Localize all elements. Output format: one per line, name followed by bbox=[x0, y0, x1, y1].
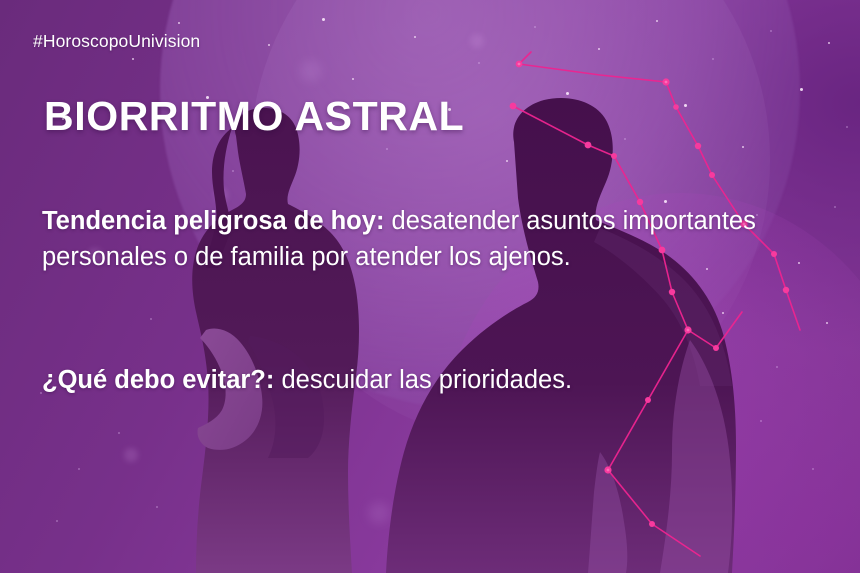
horoscope-card: #HoroscopoUnivision BIORRITMO ASTRAL Ten… bbox=[0, 0, 860, 573]
paragraph-evitar: ¿Qué debo evitar?: descuidar las priorid… bbox=[42, 362, 828, 398]
text-content: #HoroscopoUnivision BIORRITMO ASTRAL Ten… bbox=[0, 0, 860, 573]
hashtag-label: #HoroscopoUnivision bbox=[33, 31, 200, 52]
paragraph-evitar-text: descuidar las prioridades. bbox=[274, 366, 572, 394]
paragraph-tendencia-lead: Tendencia peligrosa de hoy: bbox=[42, 207, 384, 235]
paragraph-evitar-lead: ¿Qué debo evitar?: bbox=[42, 366, 274, 394]
paragraph-tendencia: Tendencia peligrosa de hoy: desatender a… bbox=[42, 203, 828, 275]
page-title: BIORRITMO ASTRAL bbox=[44, 96, 464, 137]
